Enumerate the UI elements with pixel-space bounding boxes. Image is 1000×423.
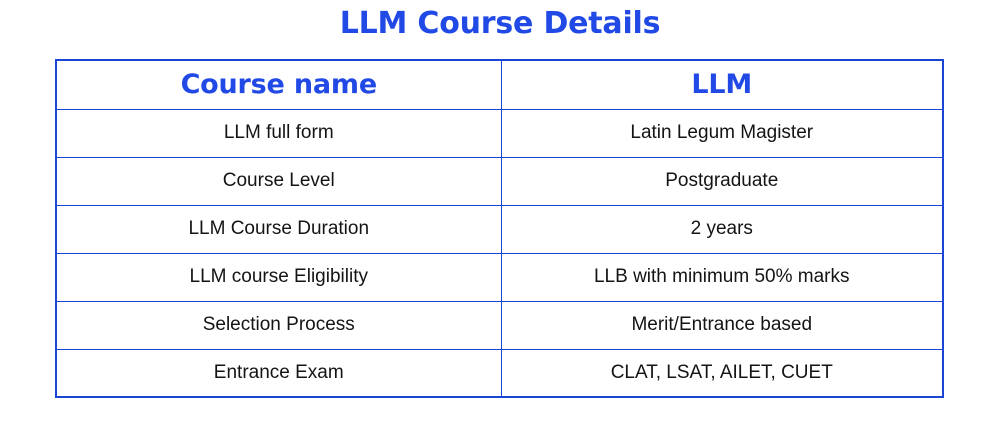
column-header-course-name: Course name (56, 60, 501, 109)
table-header: Course name LLM (56, 60, 943, 109)
row-label-llm-course-eligibility: LLM course Eligibility (56, 253, 501, 301)
table-row: Selection Process Merit/Entrance based (56, 301, 943, 349)
table-header-row: Course name LLM (56, 60, 943, 109)
table-row: LLM Course Duration 2 years (56, 205, 943, 253)
row-value-entrance-exam: CLAT, LSAT, AILET, CUET (501, 349, 943, 397)
row-value-course-level: Postgraduate (501, 157, 943, 205)
row-label-selection-process: Selection Process (56, 301, 501, 349)
row-label-course-level: Course Level (56, 157, 501, 205)
table-row: Entrance Exam CLAT, LSAT, AILET, CUET (56, 349, 943, 397)
page-title: LLM Course Details (0, 6, 1000, 41)
table-body: LLM full form Latin Legum Magister Cours… (56, 109, 943, 397)
row-label-llm-course-duration: LLM Course Duration (56, 205, 501, 253)
row-value-llm-course-eligibility: LLB with minimum 50% marks (501, 253, 943, 301)
column-header-llm: LLM (501, 60, 943, 109)
llm-course-details-table: Course name LLM LLM full form Latin Legu… (55, 59, 944, 398)
table-row: LLM full form Latin Legum Magister (56, 109, 943, 157)
table-row: Course Level Postgraduate (56, 157, 943, 205)
row-label-llm-full-form: LLM full form (56, 109, 501, 157)
row-value-llm-course-duration: 2 years (501, 205, 943, 253)
table-row: LLM course Eligibility LLB with minimum … (56, 253, 943, 301)
row-label-entrance-exam: Entrance Exam (56, 349, 501, 397)
row-value-llm-full-form: Latin Legum Magister (501, 109, 943, 157)
row-value-selection-process: Merit/Entrance based (501, 301, 943, 349)
